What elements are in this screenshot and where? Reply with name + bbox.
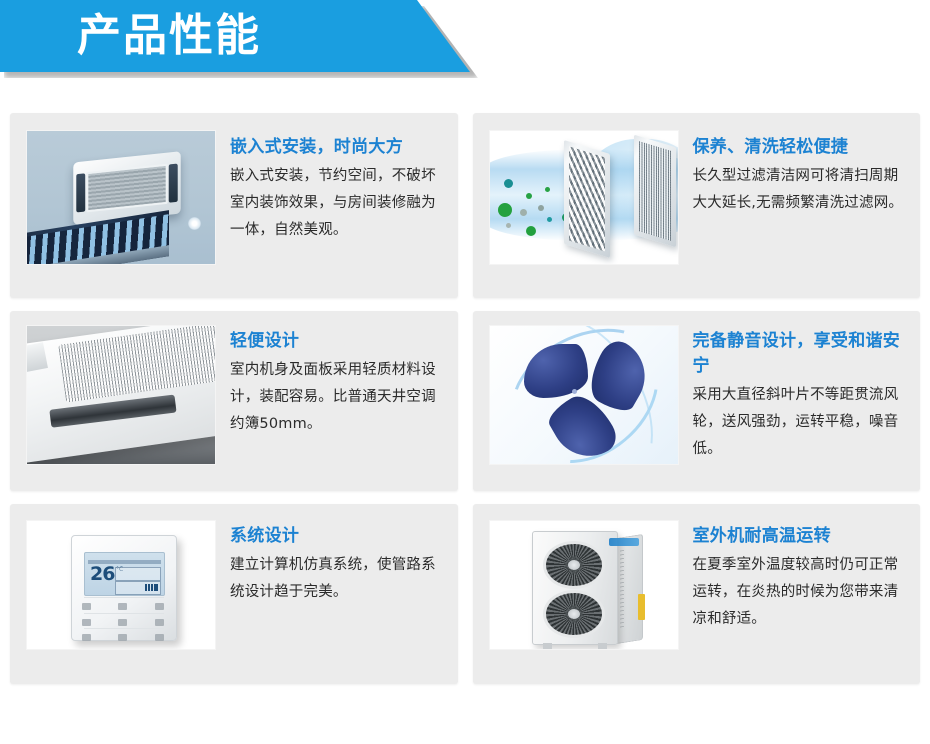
controller-button-row[interactable] bbox=[82, 631, 166, 645]
feature-body-3: 室内机身及面板采用轻质材料设计，装配容易。比普通天井空调约簿50mm。 bbox=[230, 357, 444, 438]
feature-title-5: 系统设计 bbox=[230, 524, 444, 549]
feature-title-6: 室外机耐高温运转 bbox=[693, 524, 907, 549]
feature-card-1: 嵌入式安装，时尚大方 嵌入式安装，节约空间，不破坏室内装饰效果，与房间装修融为一… bbox=[10, 113, 458, 298]
feature-card-3: 轻便设计 室内机身及面板采用轻质材料设计，装配容易。比普通天井空调约簿50mm。 bbox=[10, 311, 458, 491]
particle-dot bbox=[498, 203, 512, 217]
controller-lcd-screen: 26 °C bbox=[84, 552, 165, 596]
warning-label-icon bbox=[638, 594, 645, 620]
particle-dot bbox=[547, 217, 552, 222]
feature-card-5: 26 °C bbox=[10, 504, 458, 684]
feature-row-3: 26 °C bbox=[0, 504, 930, 684]
ceiling-lamp-icon bbox=[188, 217, 201, 230]
lcd-temperature-value: 26 bbox=[90, 565, 114, 584]
feature-card-2: 保养、清洗轻松便捷 长久型过滤清洁网可将清扫周期大大延长,无需频繁清洗过滤网。 bbox=[473, 113, 921, 298]
condenser-fan-grille-icon bbox=[543, 590, 605, 638]
feature-text-4: 完备静音设计，享受和谐安宁 采用大直径斜叶片不等距贯流风轮，送风强劲，运转平稳，… bbox=[679, 311, 921, 491]
fan-speed-bars-icon bbox=[145, 584, 158, 591]
feature-body-5: 建立计算机仿真系统，使管路系统设计趋于完美。 bbox=[230, 552, 444, 606]
feature-body-1: 嵌入式安装，节约空间，不破坏室内装饰效果，与房间装修融为一体，自然美观。 bbox=[230, 163, 444, 244]
page-title: 产品性能 bbox=[77, 5, 261, 67]
brand-logo-icon bbox=[609, 538, 639, 546]
feature-body-4: 采用大直径斜叶片不等距贯流风轮，送风强劲，运转平稳，噪音低。 bbox=[693, 382, 907, 463]
feature-title-4: 完备静音设计，享受和谐安宁 bbox=[693, 329, 907, 379]
indoor-unit-grille-photo bbox=[26, 325, 216, 465]
feature-row-1: 嵌入式安装，时尚大方 嵌入式安装，节约空间，不破坏室内装饰效果，与房间装修融为一… bbox=[0, 113, 930, 298]
outdoor-unit-cabinet-icon bbox=[532, 531, 618, 645]
feature-text-2: 保养、清洗轻松便捷 长久型过滤清洁网可将清扫周期大大延长,无需频繁清洗过滤网。 bbox=[679, 113, 921, 298]
particle-dot bbox=[506, 223, 511, 228]
feature-text-5: 系统设计 建立计算机仿真系统，使管路系统设计趋于完美。 bbox=[216, 504, 458, 684]
feature-card-6: 室外机耐高温运转 在夏季室外温度较高时仍可正常运转，在炎热的时候为您带来清凉和舒… bbox=[473, 504, 921, 684]
ceiling-cassette-photo bbox=[26, 130, 216, 265]
fan-blade-photo bbox=[489, 325, 679, 465]
fan-hub-icon bbox=[556, 372, 594, 410]
particle-dot bbox=[504, 179, 513, 188]
feature-text-1: 嵌入式安装，时尚大方 嵌入式安装，节约空间，不破坏室内装饰效果，与房间装修融为一… bbox=[216, 113, 458, 298]
condenser-fan-grille-icon bbox=[543, 541, 605, 589]
filter-panel-back-icon bbox=[634, 135, 676, 248]
feature-title-2: 保养、清洗轻松便捷 bbox=[693, 135, 907, 160]
outdoor-unit-photo bbox=[489, 520, 679, 650]
feature-text-3: 轻便设计 室内机身及面板采用轻质材料设计，装配容易。比普通天井空调约簿50mm。 bbox=[216, 311, 458, 491]
page-header: 产品性能 bbox=[0, 0, 930, 86]
particle-dot bbox=[538, 205, 544, 211]
particle-dot bbox=[526, 226, 536, 236]
feature-body-2: 长久型过滤清洁网可将清扫周期大大延长,无需频繁清洗过滤网。 bbox=[693, 163, 907, 217]
feature-title-1: 嵌入式安装，时尚大方 bbox=[230, 135, 444, 160]
wall-controller-photo: 26 °C bbox=[26, 520, 216, 650]
wall-controller-icon: 26 °C bbox=[71, 535, 177, 641]
feature-title-3: 轻便设计 bbox=[230, 329, 444, 354]
feature-card-4: 完备静音设计，享受和谐安宁 采用大直径斜叶片不等距贯流风轮，送风强劲，运转平稳，… bbox=[473, 311, 921, 491]
particle-dot bbox=[545, 187, 550, 192]
feature-grid: 嵌入式安装，时尚大方 嵌入式安装，节约空间，不破坏室内装饰效果，与房间装修融为一… bbox=[0, 113, 930, 697]
feature-row-2: 轻便设计 室内机身及面板采用轻质材料设计，装配容易。比普通天井空调约簿50mm。… bbox=[0, 311, 930, 491]
filter-panel-front-icon bbox=[564, 140, 610, 258]
feature-text-6: 室外机耐高温运转 在夏季室外温度较高时仍可正常运转，在炎热的时候为您带来清凉和舒… bbox=[679, 504, 921, 684]
outdoor-unit-side-panel bbox=[616, 534, 643, 644]
particle-dot bbox=[520, 209, 527, 216]
feature-body-6: 在夏季室外温度较高时仍可正常运转，在炎热的时候为您带来清凉和舒适。 bbox=[693, 552, 907, 633]
air-filter-diagram bbox=[489, 130, 679, 265]
controller-button-row[interactable] bbox=[82, 600, 166, 614]
particle-dot bbox=[526, 193, 532, 199]
